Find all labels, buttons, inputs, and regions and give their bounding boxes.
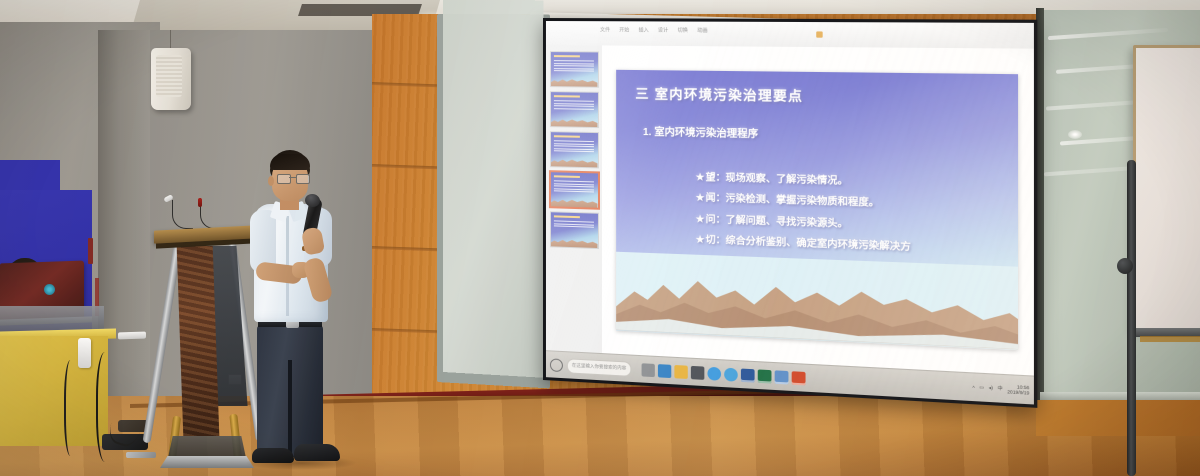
star-icon: ★ (696, 172, 705, 183)
slide-bullet: ★望：现场观察、了解污染情况。 (696, 169, 1006, 192)
ppt-tab[interactable]: 设计 (658, 27, 668, 34)
excel-icon[interactable] (758, 369, 772, 383)
task-view-icon[interactable] (642, 363, 655, 377)
glasses-lens-right (296, 174, 310, 184)
network-icon[interactable]: ▭ (979, 384, 984, 391)
thumbnail-text-lines (553, 180, 593, 194)
whiteboard-stand-post (1127, 160, 1136, 476)
thumbnail-mountain-graphic (550, 237, 597, 248)
word-icon[interactable] (741, 368, 755, 382)
powerpoint-window: 文件 开始 插入 设计 切换 动画 (546, 21, 1034, 404)
start-button-icon[interactable] (550, 358, 563, 372)
bullet-label: 望 (706, 172, 716, 184)
gooseneck-microphone (200, 198, 235, 229)
slide-title: 三 室内环境污染治理要点 (635, 84, 1001, 109)
presenter-remote (118, 332, 146, 340)
presenter-ear (268, 176, 274, 186)
thumbnail-text-lines (553, 140, 593, 154)
taskbar-clock[interactable]: 10:56 2019/9/19 (1007, 383, 1029, 396)
ppt-workspace: 三 室内环境污染治理要点 1. 室内环境污染治理程序 ★望：现场观察、了解污染情… (546, 45, 1034, 377)
whiteboard-on-stand (1133, 45, 1200, 331)
ppt-ribbon-tabs[interactable]: 文件 开始 插入 设计 切换 动画 (600, 26, 708, 34)
volume-icon[interactable]: ◂) (989, 385, 993, 392)
projected-image: 文件 开始 插入 设计 切换 动画 (546, 21, 1034, 404)
thumbnail-mountain-graphic (550, 117, 597, 127)
speaker-grill-icon (156, 55, 182, 97)
ime-icon[interactable]: 中 (997, 385, 1002, 392)
thumbnail-title-bar (553, 95, 579, 97)
slide-editing-stage: 三 室内环境污染治理要点 1. 室内环境污染治理程序 ★望：现场观察、了解污染情… (602, 45, 1034, 376)
taskbar-search-input[interactable]: 在这里输入你要搜索的内容 (567, 358, 631, 377)
power-adapter (78, 338, 91, 368)
glasses-icon (277, 174, 308, 182)
lectern-base-plate (160, 456, 254, 468)
microphone-indicator-icon (198, 198, 202, 207)
file-explorer-icon[interactable] (674, 364, 687, 378)
ppt-tab[interactable]: 文件 (600, 26, 610, 33)
thumbnail-mountain-graphic (550, 157, 597, 167)
bullet-text: 污染检测、掌握污染物质和程度。 (726, 194, 880, 210)
wood-base-right (1036, 400, 1200, 436)
ppt-tab[interactable]: 开始 (619, 26, 629, 33)
bullet-label: 问 (706, 214, 716, 226)
presenter-hair-front (270, 154, 310, 170)
ppt-tab[interactable]: 切换 (678, 27, 688, 34)
slide-thumbnail[interactable] (549, 131, 598, 168)
slide-bullet: ★问：了解问题、寻找污染源头。 (696, 210, 1006, 235)
ppt-tab[interactable]: 动画 (697, 27, 707, 34)
star-icon: ★ (696, 193, 705, 205)
slide-thumbnail-rail[interactable] (546, 45, 603, 354)
laptop-logo-icon (44, 284, 55, 295)
thumbnail-mountain-graphic (550, 197, 597, 207)
qq-icon[interactable] (724, 367, 738, 381)
ppt-tab[interactable]: 插入 (639, 26, 649, 33)
powerpoint-icon[interactable] (792, 371, 806, 385)
lectern-base-shadow (168, 436, 246, 458)
ppt-ribbon-accent-icon (816, 31, 822, 37)
thumbnail-text-lines (553, 220, 593, 229)
presenter-shoe-right (294, 444, 340, 461)
cable (64, 360, 80, 456)
taskbar-app-icons[interactable] (642, 363, 806, 385)
slide-thumbnail[interactable] (549, 91, 598, 128)
thumbnail-title-bar (553, 215, 579, 218)
screen-unlit-area (443, 0, 544, 378)
edge-browser-icon[interactable] (658, 364, 671, 378)
glasses-lens-left (277, 174, 291, 184)
bullet-text: 了解问题、寻找污染源头。 (726, 214, 848, 229)
thumbnail-text-lines (553, 100, 593, 111)
presenter (246, 150, 366, 476)
star-icon: ★ (696, 213, 705, 225)
glass-light-reflection (1068, 130, 1082, 139)
bullet-text: 综合分析鉴别、确定室内环境污染解决方 (726, 235, 911, 253)
slide-thumbnail[interactable] (549, 51, 598, 88)
glasses-bridge (289, 177, 296, 178)
bullet-text: 现场观察、了解污染情况。 (726, 173, 848, 188)
presenter-shoe-left (252, 448, 294, 463)
presenter-leg-separation (288, 360, 292, 458)
lectern-front-panel (177, 246, 220, 436)
operator-desk (0, 336, 108, 446)
thumbnail-title-bar (553, 135, 579, 138)
slide-thumbnail[interactable] (549, 211, 598, 249)
browser-alt-icon[interactable] (775, 370, 789, 384)
wechat-icon[interactable] (707, 366, 721, 380)
bullet-label: 切 (706, 234, 716, 246)
projection-screen: 文件 开始 插入 设计 切换 动画 (543, 18, 1037, 408)
lectern-panel-texture (177, 246, 220, 436)
slide-bullet: ★闻：污染检测、掌握污染物质和程度。 (696, 190, 1006, 214)
tray-chevron-icon[interactable]: ^ (972, 385, 974, 390)
lecture-hall-photo: 文件 开始 插入 设计 切换 动画 (0, 0, 1200, 476)
whiteboard-tray-wood (1140, 336, 1200, 342)
slide-bullet: ★切：综合分析鉴别、确定室内环境污染解决方 (696, 231, 1006, 256)
clock-date: 2019/9/19 (1007, 389, 1029, 396)
wall-mounted-speaker (151, 48, 191, 110)
star-icon: ★ (696, 234, 705, 246)
slide-bullet-list: ★望：现场观察、了解污染情况。 ★闻：污染检测、掌握污染物质和程度。 ★问：了解… (654, 168, 1005, 263)
gooseneck-microphone (172, 200, 193, 229)
whiteboard-adjust-knob[interactable] (1117, 258, 1133, 274)
taskbar-system-tray[interactable]: ^ ▭ ◂) 中 10:56 2019/9/19 (972, 381, 1034, 396)
thumbnail-title-bar (553, 175, 579, 178)
thumbnail-title-bar (553, 55, 579, 57)
thumbnail-text-lines (553, 60, 593, 73)
speaker-wire (170, 30, 171, 50)
thumbnail-mountain-graphic (550, 77, 597, 87)
store-icon[interactable] (691, 365, 704, 379)
projection-screen-assembly: 文件 开始 插入 设计 切换 动画 (443, 0, 1013, 390)
slide-subtitle: 1. 室内环境污染治理程序 (643, 123, 1001, 146)
wall-marker (88, 238, 93, 264)
current-slide[interactable]: 三 室内环境污染治理要点 1. 室内环境污染治理程序 ★望：现场观察、了解污染情… (616, 70, 1018, 349)
bullet-label: 闻 (706, 193, 716, 205)
slide-thumbnail-selected[interactable] (549, 171, 598, 209)
mountain-graphic-icon (616, 252, 1018, 349)
